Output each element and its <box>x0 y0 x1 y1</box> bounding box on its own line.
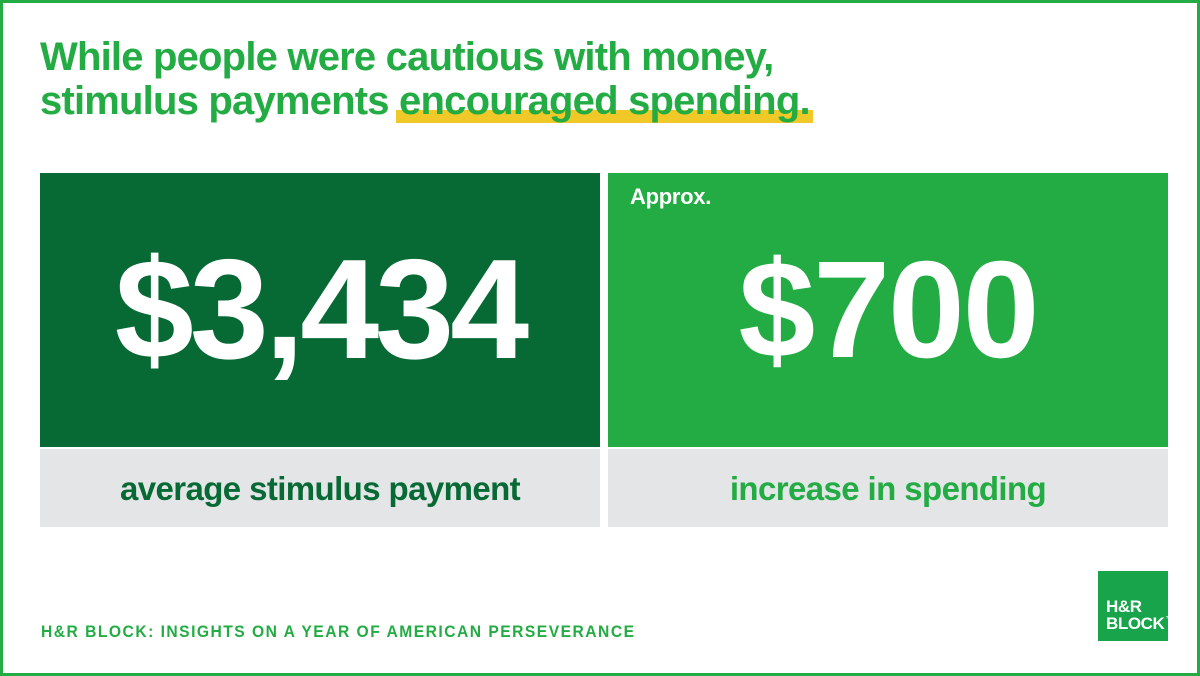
stat-card-increase-in-spending: Approx. $700 increase in spending <box>608 173 1168 527</box>
headline-line-2: stimulus payments encouraged spending. <box>40 79 1140 123</box>
hr-block-logo-word: BLOCK <box>1106 614 1164 633</box>
trademark-icon: ™ <box>1165 616 1172 623</box>
stat-value-increase-in-spending: $700 <box>608 241 1168 379</box>
page-title: While people were cautious with money, s… <box>40 35 1140 123</box>
stat-panel-increase-in-spending: Approx. $700 <box>608 173 1168 447</box>
infographic-poster: While people were cautious with money, s… <box>0 0 1200 676</box>
footer-source-line: H&R BLOCK: INSIGHTS ON A YEAR OF AMERICA… <box>41 623 635 640</box>
headline-line-1: While people were cautious with money, <box>40 35 1140 79</box>
headline-highlighted-phrase: encouraged spending. <box>399 79 810 123</box>
hr-block-logo-line-2: BLOCK™ <box>1106 615 1164 632</box>
stat-panel-group: $3,434 average stimulus payment Approx. … <box>40 173 1168 527</box>
stat-caption-increase-in-spending: increase in spending <box>608 449 1168 527</box>
stat-eyebrow-approx: Approx. <box>630 186 711 208</box>
hr-block-logo-text: H&R BLOCK™ <box>1106 598 1164 632</box>
hr-block-logo-line-1: H&R <box>1106 598 1164 615</box>
headline-line-2-prefix: stimulus payments <box>40 79 399 123</box>
stat-caption-average-stimulus-payment: average stimulus payment <box>40 449 600 527</box>
hr-block-logo: H&R BLOCK™ <box>1098 571 1168 641</box>
stat-panel-average-stimulus-payment: $3,434 <box>40 173 600 447</box>
stat-value-average-stimulus-payment: $3,434 <box>40 239 600 381</box>
stat-card-average-stimulus-payment: $3,434 average stimulus payment <box>40 173 600 527</box>
